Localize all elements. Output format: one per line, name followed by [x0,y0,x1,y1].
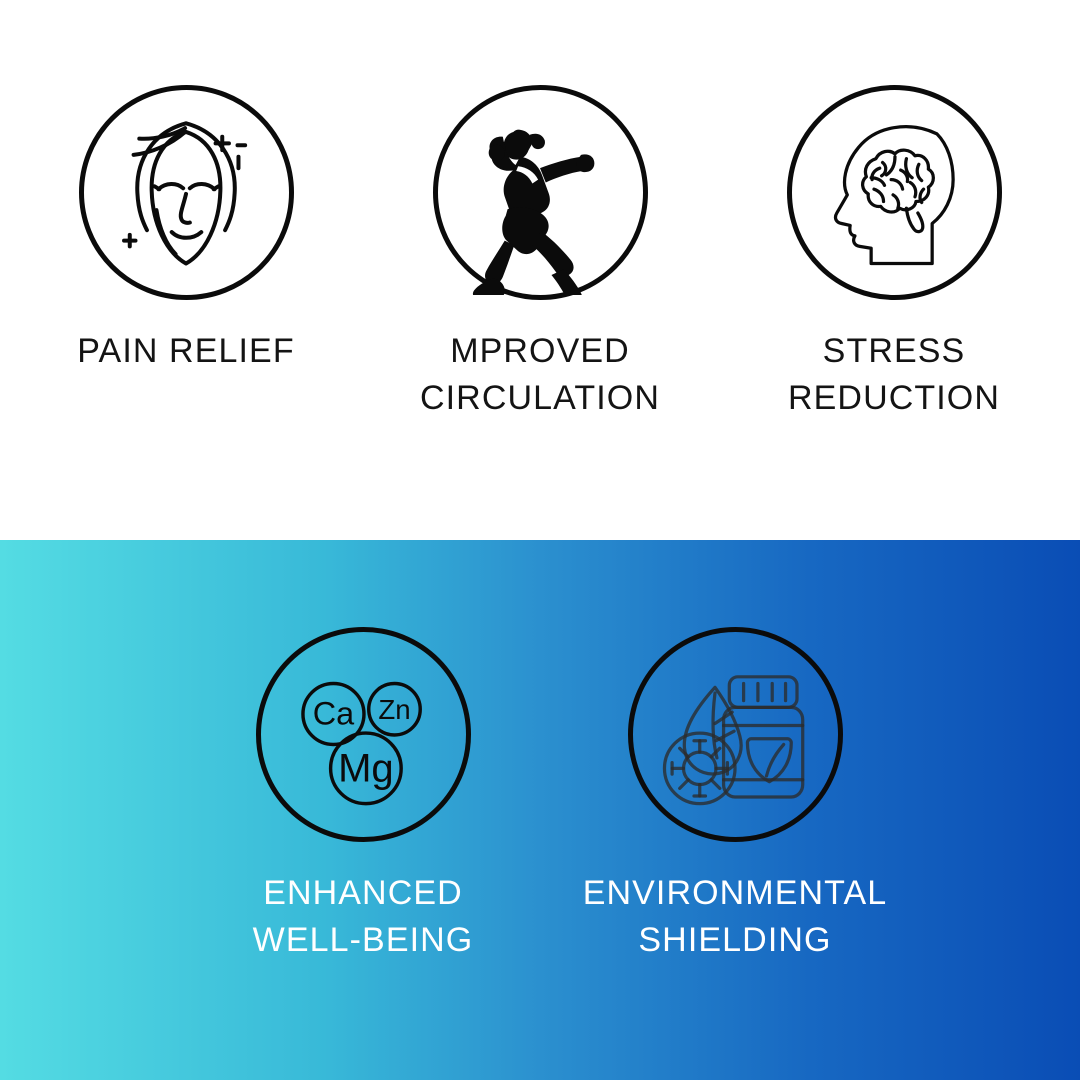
feature-label: ENVIRONMENTAL SHIELDING [575,870,895,964]
minerals-icon: Ca Zn Mg [256,627,471,842]
gradient-band [0,540,1080,1080]
feature-stress-reduction[interactable]: STRESS REDUCTION [734,85,1054,422]
feature-environmental-shielding[interactable]: ENVIRONMENTAL SHIELDING [575,627,895,964]
head-brain-icon [787,85,1002,300]
feature-improved-circulation[interactable]: MPROVED CIRCULATION [380,85,700,422]
serene-face-icon [79,85,294,300]
feature-pain-relief[interactable]: PAIN RELIEF [26,85,346,375]
supplement-shield-icon [628,627,843,842]
feature-label: PAIN RELIEF [26,328,346,375]
feature-label: ENHANCED WELL-BEING [203,870,523,964]
feature-enhanced-well-being[interactable]: Ca Zn Mg ENHANCED WELL-BEING [203,627,523,964]
running-woman-icon [433,85,648,300]
feature-label: MPROVED CIRCULATION [380,328,700,422]
infographic-canvas: PAIN RELIEF [0,0,1080,1080]
mineral-label-zn: Zn [378,694,410,725]
feature-label: STRESS REDUCTION [734,328,1054,422]
mineral-label-ca: Ca [312,695,354,731]
mineral-label-mg: Mg [338,747,394,791]
